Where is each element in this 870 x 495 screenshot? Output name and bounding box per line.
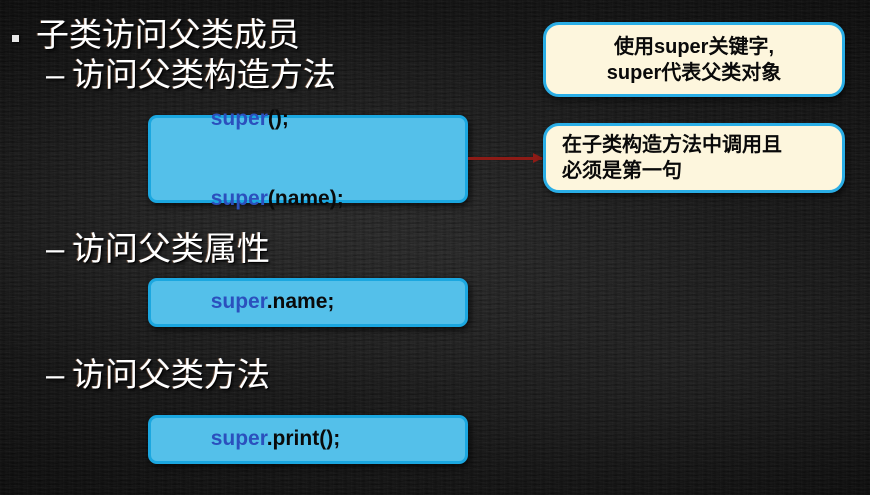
code-line: super(); <box>164 86 465 152</box>
slide-canvas: 子类访问父类成员 – 访问父类构造方法 super(); super(name)… <box>0 0 870 495</box>
outline-level2-text-3: 访问父类方法 <box>72 358 270 391</box>
code-rest: (); <box>268 107 289 130</box>
code-line: super.print(); <box>164 406 465 472</box>
outline-level2-dash-2: – <box>46 232 64 265</box>
code-block-field: super.name; <box>148 278 468 327</box>
callout-line: 必须是第一句 <box>562 158 682 184</box>
connector-arrow <box>468 157 542 160</box>
outline-level2-text-2: 访问父类属性 <box>72 232 270 265</box>
outline-level1-text: 子类访问父类成员 <box>36 18 300 51</box>
code-rest: .name; <box>267 290 335 313</box>
callout-constructor-rule: 在子类构造方法中调用且 必须是第一句 <box>543 123 845 193</box>
callout-line: 使用super关键字, <box>614 34 774 60</box>
code-keyword: super <box>211 187 268 210</box>
code-block-method: super.print(); <box>148 415 468 464</box>
callout-super-keyword: 使用super关键字, super代表父类对象 <box>543 22 845 97</box>
code-block-constructor: super(); super(name); <box>148 115 468 203</box>
code-keyword: super <box>211 427 267 450</box>
outline-level2-dash-1: – <box>46 58 64 91</box>
code-line: super(name); <box>164 166 465 232</box>
callout-line: super代表父类对象 <box>607 60 781 86</box>
code-rest: .print(); <box>267 427 340 450</box>
callout-line: 在子类构造方法中调用且 <box>562 132 782 158</box>
code-keyword: super <box>211 290 267 313</box>
outline-level2-dash-3: – <box>46 358 64 391</box>
code-line: super.name; <box>164 269 465 335</box>
code-rest: (name); <box>268 187 344 210</box>
code-keyword: super <box>211 107 268 130</box>
arrow-head-icon <box>533 153 543 163</box>
square-bullet-icon <box>12 35 19 42</box>
